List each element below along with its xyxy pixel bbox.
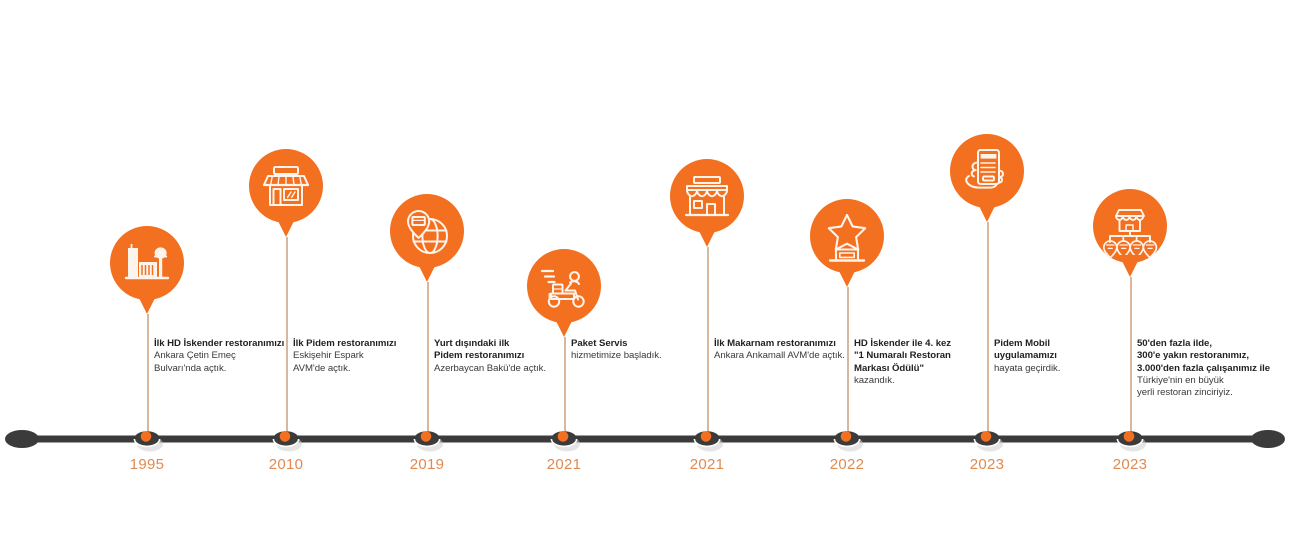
milestone-description: İlk Pidem restoranımızıEskişehir EsparkA… xyxy=(293,338,443,375)
timeline-node[interactable] xyxy=(831,424,863,454)
milestone-text-line: Ankara Ankamall AVM'de açtık. xyxy=(714,350,864,362)
milestone-description: İlk HD İskender restoranımızıAnkara Çeti… xyxy=(154,338,304,375)
milestone-description: Paket Servishizmetimize başladık. xyxy=(571,338,721,363)
milestone-stem-line xyxy=(707,247,709,439)
milestone-text-line: İlk Makarnam restoranımızı xyxy=(714,338,864,350)
milestone-year-label: 1995 xyxy=(107,456,187,473)
milestone-year-label: 2021 xyxy=(667,456,747,473)
milestone-stem-line xyxy=(1130,277,1132,439)
milestone-text-line: "1 Numaralı Restoran xyxy=(854,350,1004,362)
milestone-text-line: yerli restoran zinciriyiz. xyxy=(1137,387,1287,399)
mobile-app-hand-icon[interactable] xyxy=(950,134,1024,208)
milestone-text-line: Ankara Çetin Emeç xyxy=(154,350,304,362)
milestone-text-line: Markası Ödülü" xyxy=(854,363,1004,375)
milestone-text-line: AVM'de açtık. xyxy=(293,363,443,375)
milestone-text-line: hayata geçirdik. xyxy=(994,363,1144,375)
milestone-text-line: Eskişehir Espark xyxy=(293,350,443,362)
milestone-year-label: 2022 xyxy=(807,456,887,473)
milestone-text-line: İlk HD İskender restoranımızı xyxy=(154,338,304,350)
milestone-text-line: hizmetimize başladık. xyxy=(571,350,721,362)
timeline-node[interactable] xyxy=(548,424,580,454)
timeline-node[interactable] xyxy=(691,424,723,454)
milestone-year-label: 2019 xyxy=(387,456,467,473)
delivery-scooter-icon[interactable] xyxy=(527,249,601,323)
timeline-node[interactable] xyxy=(411,424,443,454)
milestone-year-label: 2023 xyxy=(1090,456,1170,473)
pidem-storefront-icon[interactable] xyxy=(249,149,323,223)
milestone-year-label: 2021 xyxy=(524,456,604,473)
milestone-stem-line xyxy=(987,222,989,439)
globe-location-icon[interactable] xyxy=(390,194,464,268)
milestone-stem-line xyxy=(847,287,849,439)
milestone-year-label: 2010 xyxy=(246,456,326,473)
timeline-node[interactable] xyxy=(1114,424,1146,454)
milestone-stem-line xyxy=(147,314,149,439)
milestone-text-line: Bulvarı'nda açtık. xyxy=(154,363,304,375)
timeline-node[interactable] xyxy=(971,424,1003,454)
milestone-text-line: Azerbaycan Bakü'de açtık. xyxy=(434,363,584,375)
milestone-text-line: 50'den fazla ilde, xyxy=(1137,338,1287,350)
milestone-year-label: 2023 xyxy=(947,456,1027,473)
milestone-text-line: 3.000'den fazla çalışanımız ile xyxy=(1137,363,1287,375)
milestone-text-line: İlk Pidem restoranımızı xyxy=(293,338,443,350)
milestone-description: HD İskender ile 4. kez"1 Numaralı Restor… xyxy=(854,338,1004,387)
ankara-landmark-icon[interactable] xyxy=(110,226,184,300)
restaurant-building-icon[interactable] xyxy=(670,159,744,233)
milestone-text-line: kazandık. xyxy=(854,375,1004,387)
milestone-text-line: Pidem Mobil xyxy=(994,338,1144,350)
timeline-node[interactable] xyxy=(131,424,163,454)
milestone-description: 50'den fazla ilde,300'e yakın restoranım… xyxy=(1137,338,1287,399)
timeline-node[interactable] xyxy=(270,424,302,454)
franchise-network-icon[interactable] xyxy=(1093,189,1167,263)
milestone-text-line: uygulamamızı xyxy=(994,350,1144,362)
milestone-stem-line xyxy=(427,282,429,439)
timeline-infographic: İlk HD İskender restoranımızıAnkara Çeti… xyxy=(0,0,1290,543)
milestone-description: Yurt dışındaki ilkPidem restoranımızıAze… xyxy=(434,338,584,375)
milestone-text-line: 300'e yakın restoranımız, xyxy=(1137,350,1287,362)
star-trophy-icon[interactable] xyxy=(810,199,884,273)
milestone-text-line: Paket Servis xyxy=(571,338,721,350)
milestone-description: Pidem Mobiluygulamamızıhayata geçirdik. xyxy=(994,338,1144,375)
milestone-text-line: Yurt dışındaki ilk xyxy=(434,338,584,350)
milestone-description: İlk Makarnam restoranımızıAnkara Ankamal… xyxy=(714,338,864,363)
milestone-text-line: HD İskender ile 4. kez xyxy=(854,338,1004,350)
milestone-text-line: Pidem restoranımızı xyxy=(434,350,584,362)
milestone-text-line: Türkiye'nin en büyük xyxy=(1137,375,1287,387)
milestone-stem-line xyxy=(286,237,288,439)
